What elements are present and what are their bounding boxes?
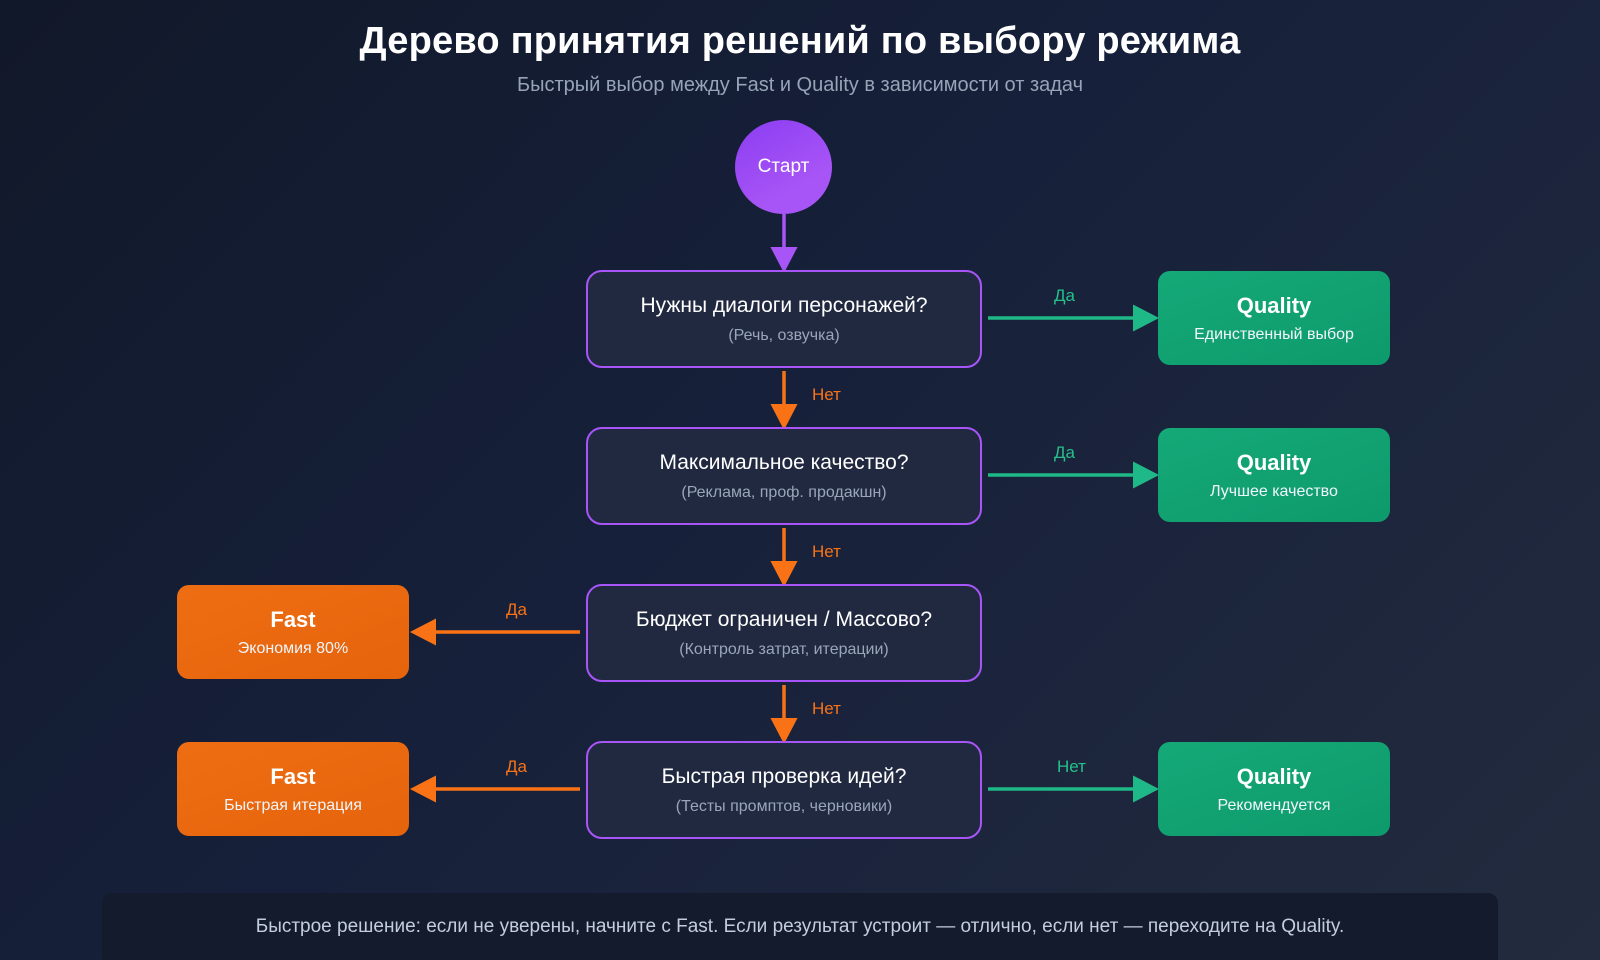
outcome-title: Quality [1237,764,1312,790]
outcome-fast-savings[interactable]: Fast Экономия 80% [177,585,409,679]
decision-question: Максимальное качество? [659,451,908,475]
outcome-title: Fast [270,607,315,633]
edge-label-d3-no: Нет [812,699,841,719]
outcome-fast-iteration[interactable]: Fast Быстрая итерация [177,742,409,836]
outcome-subtitle: Рекомендуется [1217,797,1330,815]
decision-node-budget[interactable]: Бюджет ограничен / Массово? (Контроль за… [586,584,982,682]
outcome-title: Quality [1237,293,1312,319]
edge-label-d3-yes: Да [506,600,527,620]
decision-question: Нужны диалоги персонажей? [640,294,927,318]
decision-node-quick-check[interactable]: Быстрая проверка идей? (Тесты промптов, … [586,741,982,839]
outcome-subtitle: Быстрая итерация [224,797,362,815]
outcome-subtitle: Экономия 80% [238,640,348,658]
edge-label-d1-yes: Да [1054,286,1075,306]
edge-label-d4-yes: Да [506,757,527,777]
outcome-title: Fast [270,764,315,790]
start-node-label: Старт [758,156,810,178]
outcome-subtitle: Единственный выбор [1194,326,1354,344]
outcome-quality-best[interactable]: Quality Лучшее качество [1158,428,1390,522]
decision-node-max-quality[interactable]: Максимальное качество? (Реклама, проф. п… [586,427,982,525]
outcome-title: Quality [1237,450,1312,476]
outcome-subtitle: Лучшее качество [1210,483,1338,501]
edge-label-d2-yes: Да [1054,443,1075,463]
decision-tree-canvas: Старт Нужны диалоги персонажей? (Речь, о… [0,0,1600,960]
edge-label-d1-no: Нет [812,385,841,405]
decision-hint: (Речь, озвучка) [728,327,839,345]
footer-tip-text: Быстрое решение: если не уверены, начнит… [256,916,1345,938]
decision-hint: (Реклама, проф. продакшн) [681,484,886,502]
edge-label-d4-no: Нет [1057,757,1086,777]
decision-hint: (Контроль затрат, итерации) [679,641,889,659]
decision-question: Быстрая проверка идей? [662,765,907,789]
decision-hint: (Тесты промптов, черновики) [676,798,893,816]
decision-question: Бюджет ограничен / Массово? [636,608,932,632]
outcome-quality-recommended[interactable]: Quality Рекомендуется [1158,742,1390,836]
start-node[interactable]: Старт [735,120,832,214]
footer-tip-bar: Быстрое решение: если не уверены, начнит… [102,893,1498,960]
decision-node-dialogues[interactable]: Нужны диалоги персонажей? (Речь, озвучка… [586,270,982,368]
edge-label-d2-no: Нет [812,542,841,562]
outcome-quality-only-choice[interactable]: Quality Единственный выбор [1158,271,1390,365]
